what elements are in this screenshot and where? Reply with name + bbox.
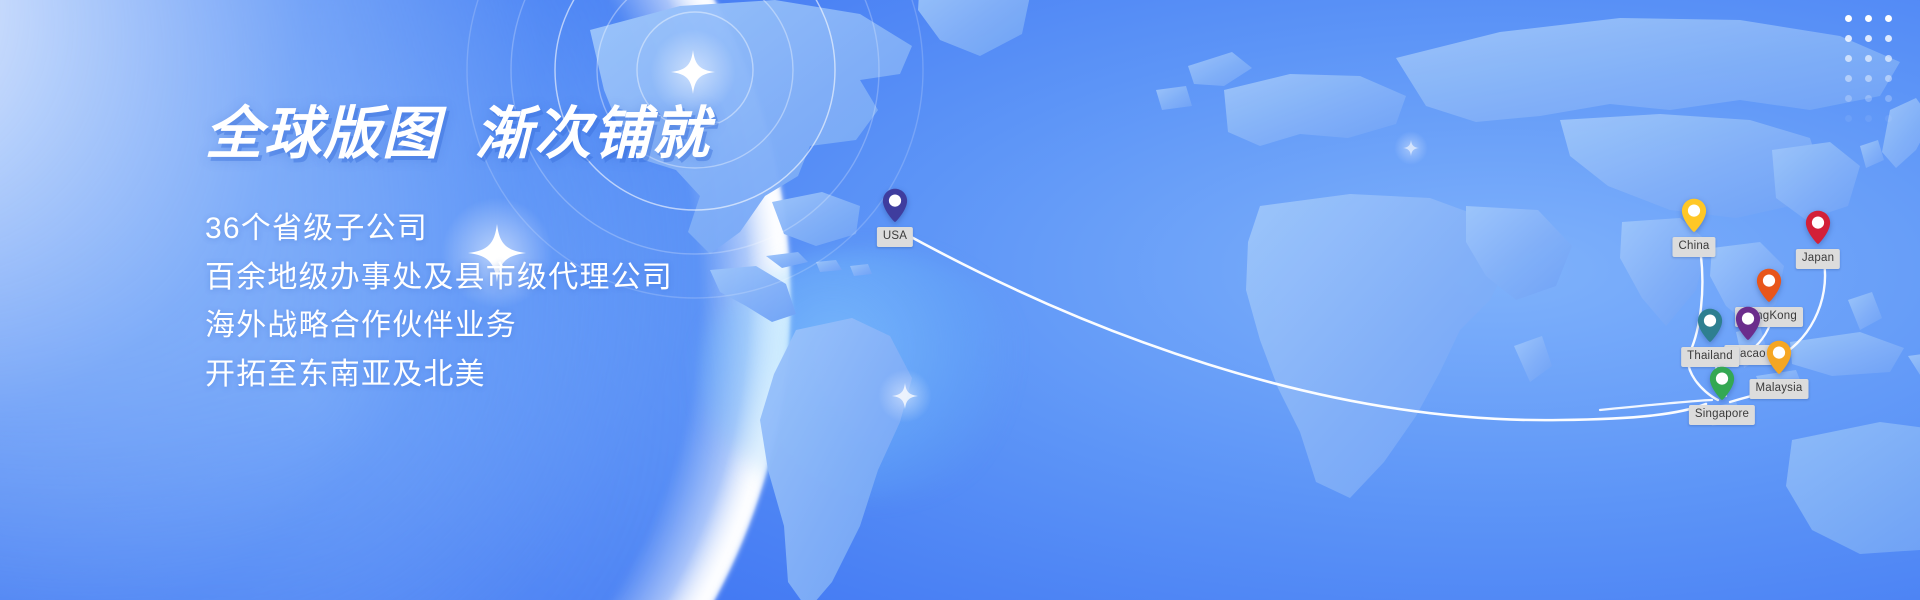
map-pin-label: China <box>1672 237 1715 257</box>
page-title: 全球版图渐次铺就 <box>205 106 1025 163</box>
location-pin-icon <box>1735 306 1761 340</box>
grid-dot <box>1885 95 1892 102</box>
location-pin-icon <box>882 188 908 222</box>
grid-dot <box>1865 35 1872 42</box>
headline-part-1: 全球版图 <box>205 102 441 166</box>
location-pin-icon <box>1697 308 1723 342</box>
grid-dot <box>1885 75 1892 82</box>
subtitle-line-2: 百余地级办事处及县市级代理公司 <box>205 254 1025 303</box>
grid-dot <box>1885 35 1892 42</box>
map-pin-label: USA <box>877 227 913 247</box>
map-pin-singapore[interactable]: Singapore <box>1709 366 1735 400</box>
map-pin-label: Thailand <box>1681 347 1739 367</box>
grid-dot <box>1885 55 1892 62</box>
grid-dot <box>1845 55 1852 62</box>
map-pin-macao[interactable]: Macao <box>1735 306 1761 340</box>
map-pin-china[interactable]: China <box>1681 198 1707 232</box>
map-pin-thailand[interactable]: Thailand <box>1697 308 1723 342</box>
grid-dot <box>1865 55 1872 62</box>
grid-dot <box>1845 115 1852 122</box>
grid-dot <box>1865 15 1872 22</box>
grid-dot <box>1865 75 1872 82</box>
banner-copy: 全球版图渐次铺就 36个省级子公司 百余地级办事处及县市级代理公司 海外战略合作… <box>205 106 1025 399</box>
subtitle-line-3: 海外战略合作伙伴业务 <box>205 302 1025 351</box>
grid-dot <box>1885 15 1892 22</box>
map-pin-japan[interactable]: Japan <box>1805 210 1831 244</box>
map-pin-label: Malaysia <box>1750 379 1809 399</box>
map-pin-label: Japan <box>1796 249 1840 269</box>
grid-dot <box>1845 15 1852 22</box>
global-map-banner: 全球版图渐次铺就 36个省级子公司 百余地级办事处及县市级代理公司 海外战略合作… <box>0 0 1920 600</box>
location-pin-icon <box>1805 210 1831 244</box>
subtitle-line-4: 开拓至东南亚及北美 <box>205 351 1025 400</box>
grid-dot <box>1845 95 1852 102</box>
map-pin-usa[interactable]: USA <box>882 188 908 222</box>
location-pin-icon <box>1681 198 1707 232</box>
headline-part-2: 渐次铺就 <box>475 102 711 166</box>
grid-dot <box>1885 115 1892 122</box>
location-pin-icon <box>1766 340 1792 374</box>
location-pin-icon <box>1709 366 1735 400</box>
dot-grid-decoration <box>1838 8 1898 128</box>
grid-dot <box>1845 35 1852 42</box>
landmass-group-oceania <box>1706 402 1920 578</box>
grid-dot <box>1845 75 1852 82</box>
map-pin-label: Singapore <box>1689 405 1755 425</box>
grid-dot <box>1865 115 1872 122</box>
grid-dot <box>1865 95 1872 102</box>
map-pin-malaysia[interactable]: Malaysia <box>1766 340 1792 374</box>
map-pin-hongkong[interactable]: HongKong <box>1756 268 1782 302</box>
location-pin-icon <box>1756 268 1782 302</box>
